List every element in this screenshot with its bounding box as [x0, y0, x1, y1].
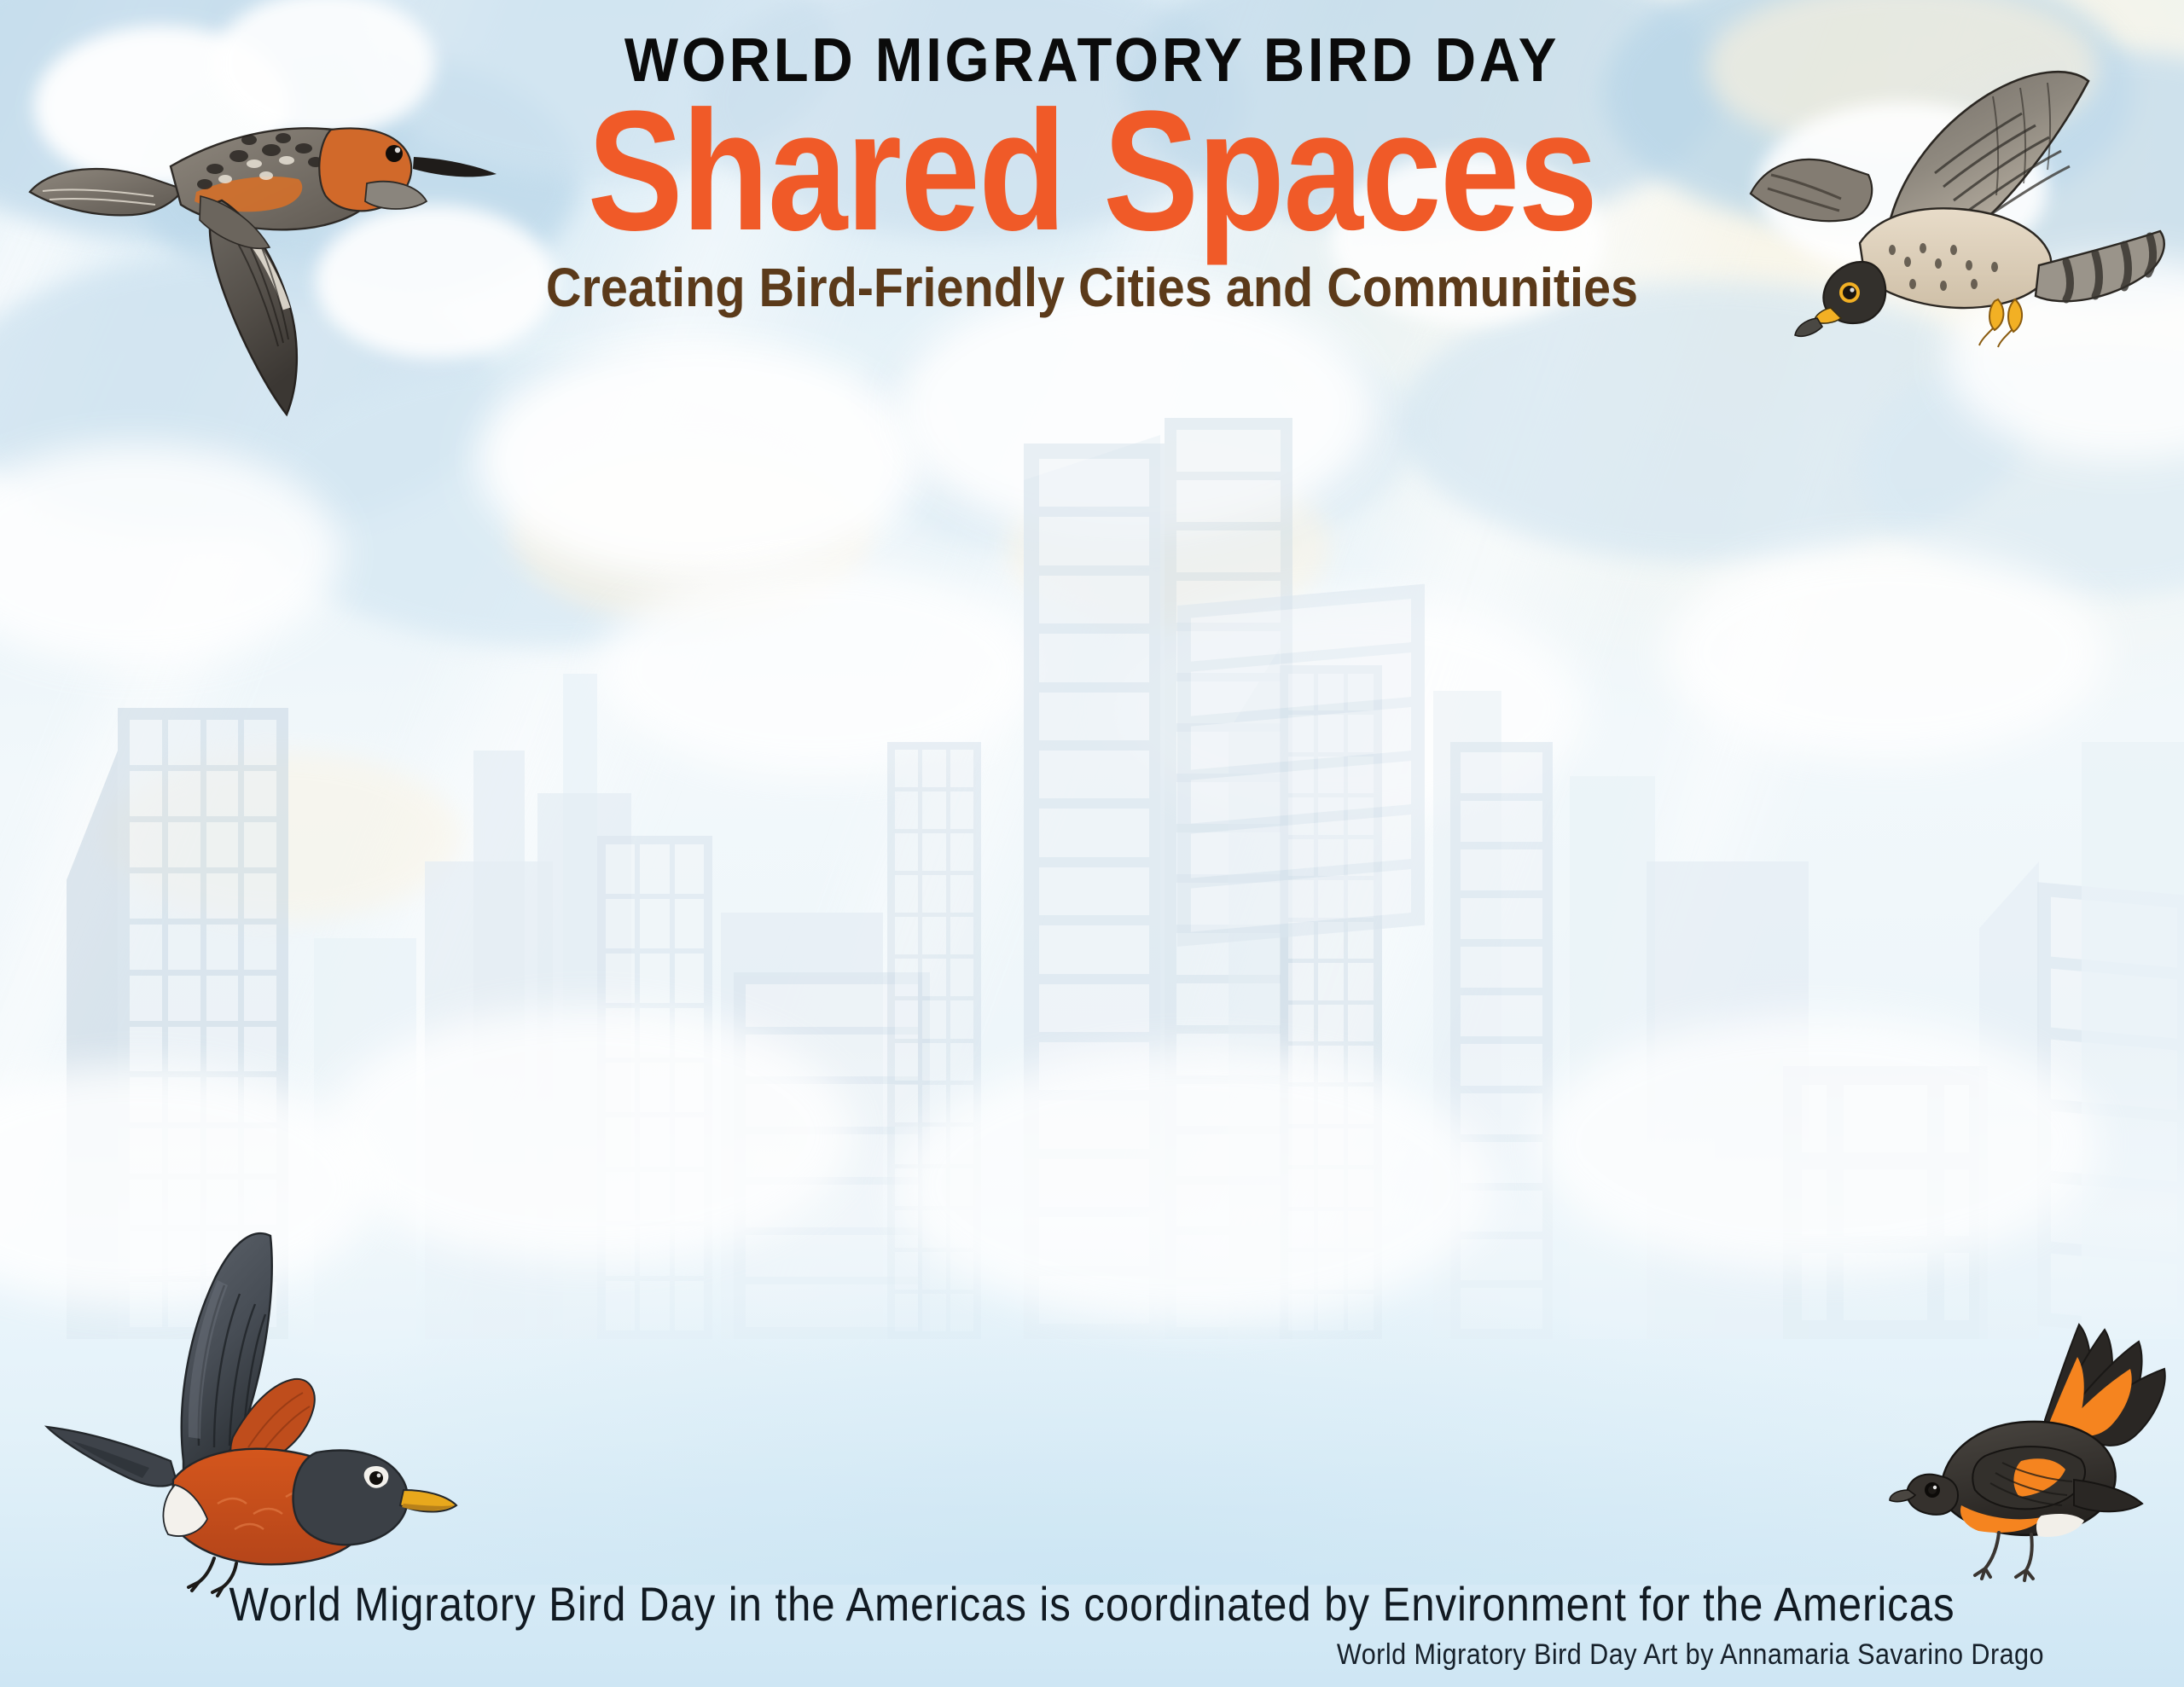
city-skyline [0, 401, 2184, 1339]
window-grid [597, 836, 712, 1339]
wmbd-poster: WORLD MIGRATORY BIRD DAY Shared Spaces C… [0, 0, 2184, 1687]
footer-art-credit: World Migratory Bird Day Art by Annamari… [109, 1638, 2075, 1672]
american-redstart-bird [1890, 1309, 2184, 1582]
window-grid [887, 742, 981, 1339]
building-side-face [1979, 861, 2039, 1339]
building-wide [1783, 1066, 1988, 1339]
red-knot-bird [26, 34, 503, 418]
peregrine-falcon-bird [1749, 72, 2184, 414]
building-tallest [1024, 443, 1165, 1339]
building [1570, 776, 1655, 1339]
building [887, 742, 981, 1339]
window-bands [1177, 584, 1425, 947]
building [2082, 742, 2184, 1339]
american-robin-bird [21, 1232, 482, 1599]
building [1450, 742, 1553, 1339]
poster-footer: World Migratory Bird Day in the Americas… [0, 1576, 2184, 1672]
window-grid [1783, 1066, 1988, 1339]
window-bands [1024, 443, 1165, 1339]
building [597, 836, 712, 1339]
window-bands [1450, 742, 1553, 1339]
footer-coordinator-text: World Migratory Bird Day in the Americas… [131, 1576, 2053, 1632]
building-leaning [1177, 584, 1425, 947]
